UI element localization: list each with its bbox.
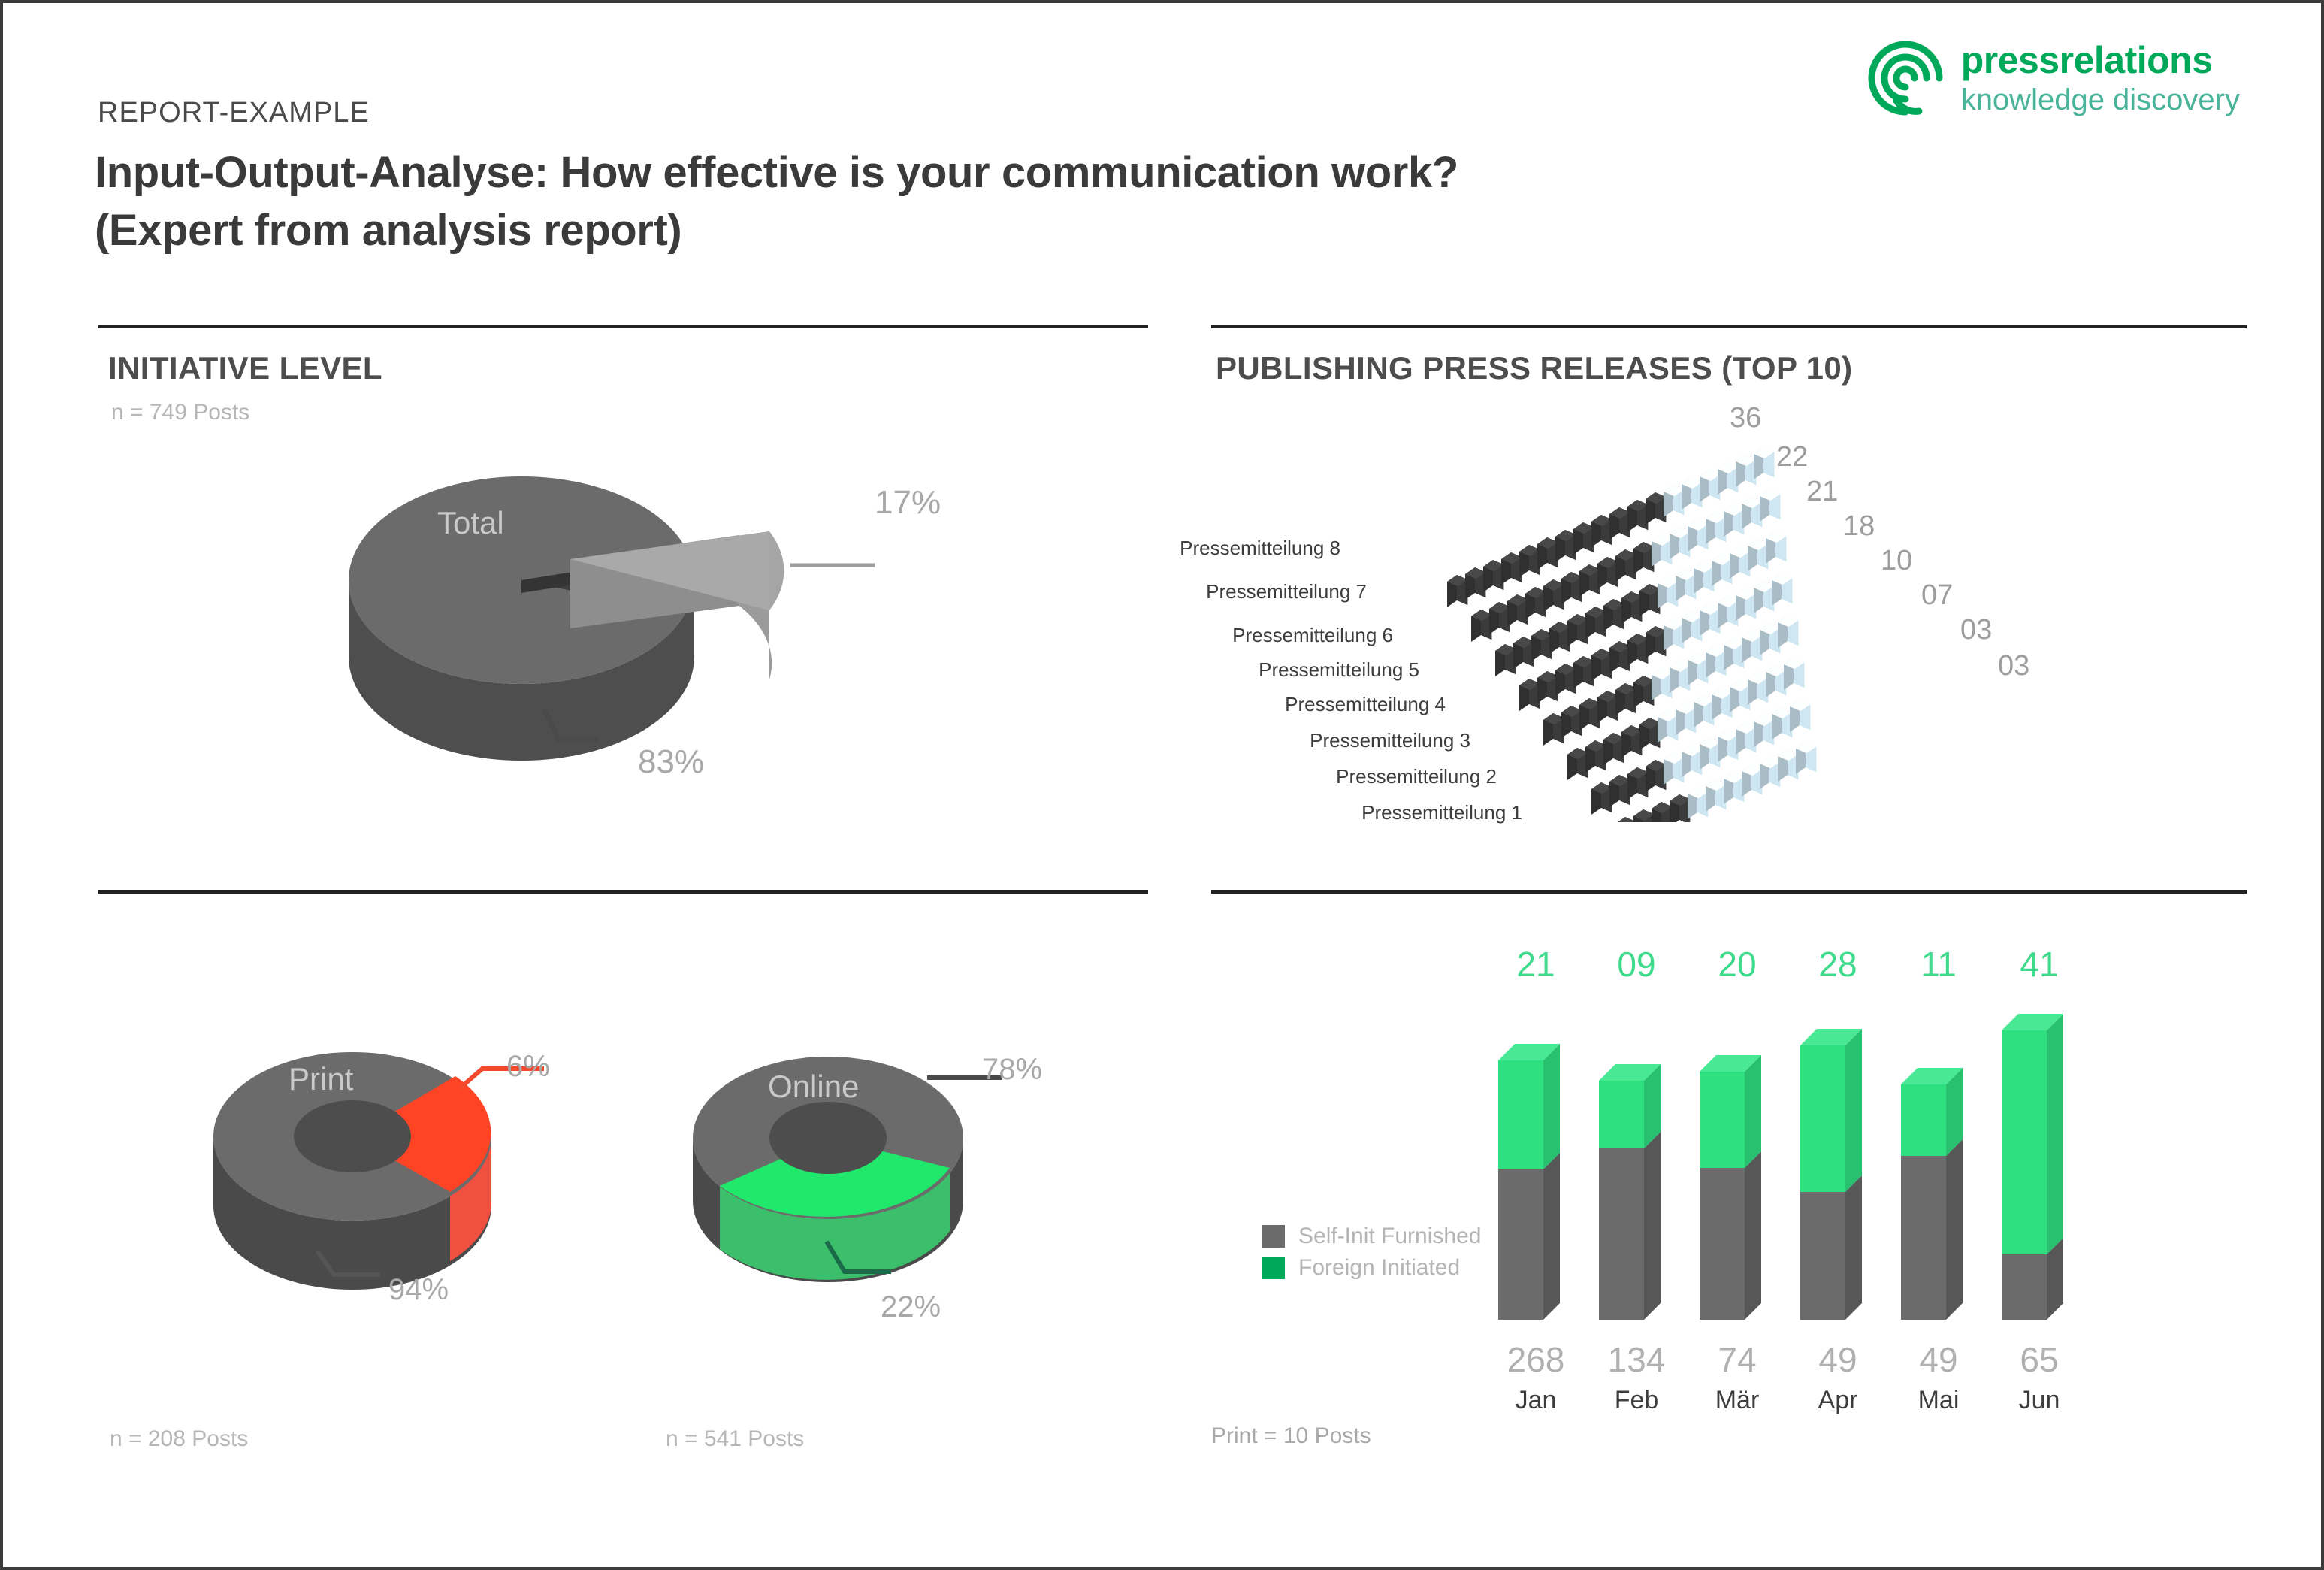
iso-block [1621, 591, 1642, 624]
iso-value-10: 10 [1881, 545, 1912, 577]
iso-block [1633, 676, 1654, 708]
iso-value-21: 21 [1806, 476, 1838, 508]
donut-label-6: 6% [506, 1050, 550, 1084]
iso-block [1658, 576, 1678, 609]
iso-block [1688, 787, 1708, 819]
section-title-initiative-level: INITIATIVE LEVEL [108, 350, 382, 386]
iso-block [1736, 588, 1756, 621]
iso-block [1585, 740, 1606, 773]
iso-block [1646, 492, 1666, 525]
bar-month-jun: Jun [1979, 1386, 2099, 1415]
iso-block [1706, 512, 1726, 544]
bar-top-label-jan: 21 [1483, 944, 1588, 985]
bar-bottom-label-jun: 65 [1979, 1339, 2099, 1380]
iso-block [1555, 530, 1576, 562]
iso-block [1573, 656, 1594, 688]
iso-block [1471, 610, 1491, 642]
divider-bottom-right [1211, 890, 2247, 894]
iso-block [1495, 644, 1516, 676]
iso-block [1555, 664, 1576, 696]
iso-value-03-b: 03 [1998, 650, 2029, 682]
iso-block [1724, 638, 1744, 670]
iso-block [1561, 706, 1582, 738]
iso-block [1694, 695, 1714, 728]
iso-block [1784, 658, 1804, 690]
iso-block [1627, 634, 1648, 666]
iso-block [1615, 683, 1636, 715]
iso-block [1489, 602, 1510, 634]
iso-row-label-1: Pressemitteilung 1 [1334, 801, 1522, 824]
iso-block [1724, 772, 1744, 804]
pressrelations-swirl-icon [1866, 39, 1945, 117]
iso-block [1567, 748, 1588, 780]
section-title-publishing-press-releases: PUBLISHING PRESS RELEASES (TOP 10) [1216, 350, 1853, 386]
iso-block [1609, 507, 1630, 540]
iso-block [1664, 485, 1684, 517]
iso-block [1549, 622, 1570, 654]
bar-top-label-apr: 28 [1785, 944, 1890, 985]
bar-chart-legend: Self-Init Furnished Foreign Initiated [1262, 1224, 1481, 1287]
iso-block [1694, 561, 1714, 594]
iso-block [1537, 537, 1558, 570]
iso-block [1639, 718, 1660, 750]
legend-item-self-init: Self-Init Furnished [1262, 1224, 1481, 1249]
iso-block [1519, 545, 1540, 577]
bar-column [1700, 1055, 1761, 1320]
iso-block [1766, 531, 1786, 564]
iso-row-label-3: Pressemitteilung 3 [1283, 729, 1470, 752]
iso-block [1676, 569, 1696, 601]
legend-swatch-foreign-initiated [1262, 1257, 1285, 1279]
bar-column [1901, 1068, 1963, 1320]
iso-block [1700, 603, 1720, 636]
pie-center-label-total: Total [437, 505, 504, 541]
iso-block [1700, 470, 1720, 502]
iso-block [1688, 653, 1708, 685]
publishing-press-releases-chart [1416, 401, 2017, 822]
iso-value-22: 22 [1776, 441, 1808, 473]
iso-block [1579, 698, 1600, 731]
iso-block [1718, 596, 1738, 628]
iso-block [1718, 730, 1738, 762]
iso-row-label-7: Pressemitteilung 7 [1179, 580, 1367, 603]
iso-block [1585, 607, 1606, 639]
legend-label-self-init: Self-Init Furnished [1298, 1224, 1481, 1249]
iso-block [1748, 673, 1768, 705]
iso-block [1633, 809, 1654, 822]
iso-row-label-5: Pressemitteilung 5 [1232, 658, 1419, 682]
iso-block [1591, 515, 1612, 547]
iso-block [1724, 504, 1744, 537]
divider-bottom-left [98, 890, 1148, 894]
iso-value-36: 36 [1730, 402, 1761, 434]
iso-block [1543, 713, 1564, 746]
divider-top-right [1211, 325, 2247, 328]
iso-block [1483, 560, 1503, 592]
iso-block [1700, 737, 1720, 770]
divider-top-left [98, 325, 1148, 328]
iso-row-label-8: Pressemitteilung 8 [1153, 537, 1340, 560]
report-kicker: REPORT-EXAMPLE [98, 97, 370, 129]
page-title: Input-Output-Analyse: How effective is y… [95, 144, 1597, 259]
iso-block [1639, 584, 1660, 616]
note-print-10-posts: Print = 10 Posts [1211, 1423, 1371, 1449]
iso-block [1742, 631, 1762, 663]
donut-center-label-print: Print [289, 1061, 353, 1097]
donut-label-78: 78% [982, 1053, 1042, 1087]
iso-block [1790, 700, 1810, 732]
iso-block [1615, 817, 1636, 822]
iso-block [1670, 527, 1690, 559]
pie-label-17: 17% [875, 484, 941, 522]
iso-block [1561, 572, 1582, 604]
iso-block [1652, 668, 1672, 700]
donut-center-label-online: Online [768, 1069, 859, 1105]
iso-block [1742, 497, 1762, 529]
iso-block [1597, 557, 1618, 589]
iso-block [1688, 519, 1708, 552]
legend-item-foreign-initiated: Foreign Initiated [1262, 1255, 1481, 1281]
iso-block [1682, 745, 1702, 777]
iso-block [1519, 679, 1540, 711]
iso-block [1507, 594, 1528, 627]
iso-block [1664, 619, 1684, 651]
iso-block [1603, 733, 1624, 765]
bar-top-label-mai: 11 [1886, 944, 1991, 985]
iso-block [1591, 649, 1612, 681]
iso-block [1730, 546, 1750, 579]
iso-block [1718, 462, 1738, 495]
iso-block [1772, 573, 1792, 606]
iso-block [1537, 671, 1558, 703]
iso-block [1603, 599, 1624, 631]
pie-label-83: 83% [638, 743, 704, 781]
iso-block [1465, 567, 1485, 600]
note-total-posts: n = 749 Posts [111, 400, 249, 425]
iso-block [1706, 646, 1726, 678]
iso-value-18: 18 [1843, 510, 1875, 543]
iso-block [1633, 542, 1654, 574]
iso-block [1796, 742, 1816, 774]
iso-block [1754, 447, 1774, 479]
iso-block [1621, 725, 1642, 758]
iso-block [1579, 564, 1600, 597]
iso-row-label-4: Pressemitteilung 4 [1258, 693, 1446, 716]
iso-block [1543, 579, 1564, 612]
iso-block [1658, 710, 1678, 743]
iso-block [1652, 534, 1672, 567]
iso-block [1531, 629, 1552, 661]
iso-block [1676, 703, 1696, 735]
iso-row-label-6: Pressemitteilung 6 [1205, 624, 1393, 647]
legend-swatch-self-init [1262, 1225, 1285, 1248]
bar-column [1599, 1064, 1661, 1320]
iso-block [1646, 760, 1666, 792]
report-page: REPORT-EXAMPLE Input-Output-Analyse: How… [0, 0, 2324, 1570]
iso-block [1501, 552, 1522, 585]
iso-block [1736, 455, 1756, 487]
iso-block [1742, 764, 1762, 797]
logo-wordmark: pressrelations [1961, 41, 2240, 79]
iso-block [1525, 587, 1546, 619]
iso-block [1615, 549, 1636, 582]
bar-column [2002, 1014, 2063, 1320]
iso-block [1712, 554, 1732, 586]
iso-block [1597, 691, 1618, 723]
iso-value-03-a: 03 [1960, 614, 1992, 646]
donut-label-94: 94% [388, 1273, 449, 1307]
iso-block [1670, 794, 1690, 822]
iso-block [1766, 665, 1786, 697]
iso-block [1670, 661, 1690, 693]
iso-block [1706, 779, 1726, 812]
iso-block [1627, 767, 1648, 800]
bar-top-label-feb: 09 [1584, 944, 1689, 985]
iso-block [1736, 722, 1756, 755]
iso-block [1730, 680, 1750, 712]
iso-block [1609, 775, 1630, 807]
iso-block [1760, 757, 1780, 789]
bar-column [1498, 1044, 1560, 1320]
iso-block [1682, 477, 1702, 510]
iso-block [1754, 581, 1774, 613]
iso-block [1778, 616, 1798, 648]
bar-column [1800, 1029, 1862, 1320]
iso-block [1567, 614, 1588, 646]
iso-block [1760, 623, 1780, 655]
iso-block [1712, 688, 1732, 720]
monthly-initiative-bar-chart [1476, 980, 2092, 1356]
iso-block [1772, 707, 1792, 740]
iso-block [1652, 802, 1672, 822]
note-print-posts: n = 208 Posts [110, 1426, 248, 1452]
iso-block [1682, 611, 1702, 643]
iso-block [1447, 575, 1467, 607]
iso-block [1748, 539, 1768, 571]
iso-block [1573, 522, 1594, 555]
donut-label-22: 22% [881, 1290, 941, 1324]
iso-value-07: 07 [1921, 579, 1953, 612]
iso-row-label-2: Pressemitteilung 2 [1309, 765, 1497, 788]
iso-block [1754, 715, 1774, 747]
iso-block [1591, 782, 1612, 815]
brand-logo: pressrelations knowledge discovery [1866, 39, 2240, 117]
note-online-posts: n = 541 Posts [666, 1426, 804, 1452]
iso-block [1778, 749, 1798, 782]
bar-top-label-mar: 20 [1685, 944, 1790, 985]
bar-top-label-jun: 41 [1987, 944, 2092, 985]
logo-tagline: knowledge discovery [1961, 85, 2240, 115]
iso-block [1609, 641, 1630, 673]
legend-label-foreign-initiated: Foreign Initiated [1298, 1255, 1460, 1281]
iso-block [1513, 637, 1534, 669]
iso-block [1646, 626, 1666, 658]
iso-block [1627, 500, 1648, 532]
iso-block [1664, 752, 1684, 785]
iso-block [1760, 489, 1780, 522]
